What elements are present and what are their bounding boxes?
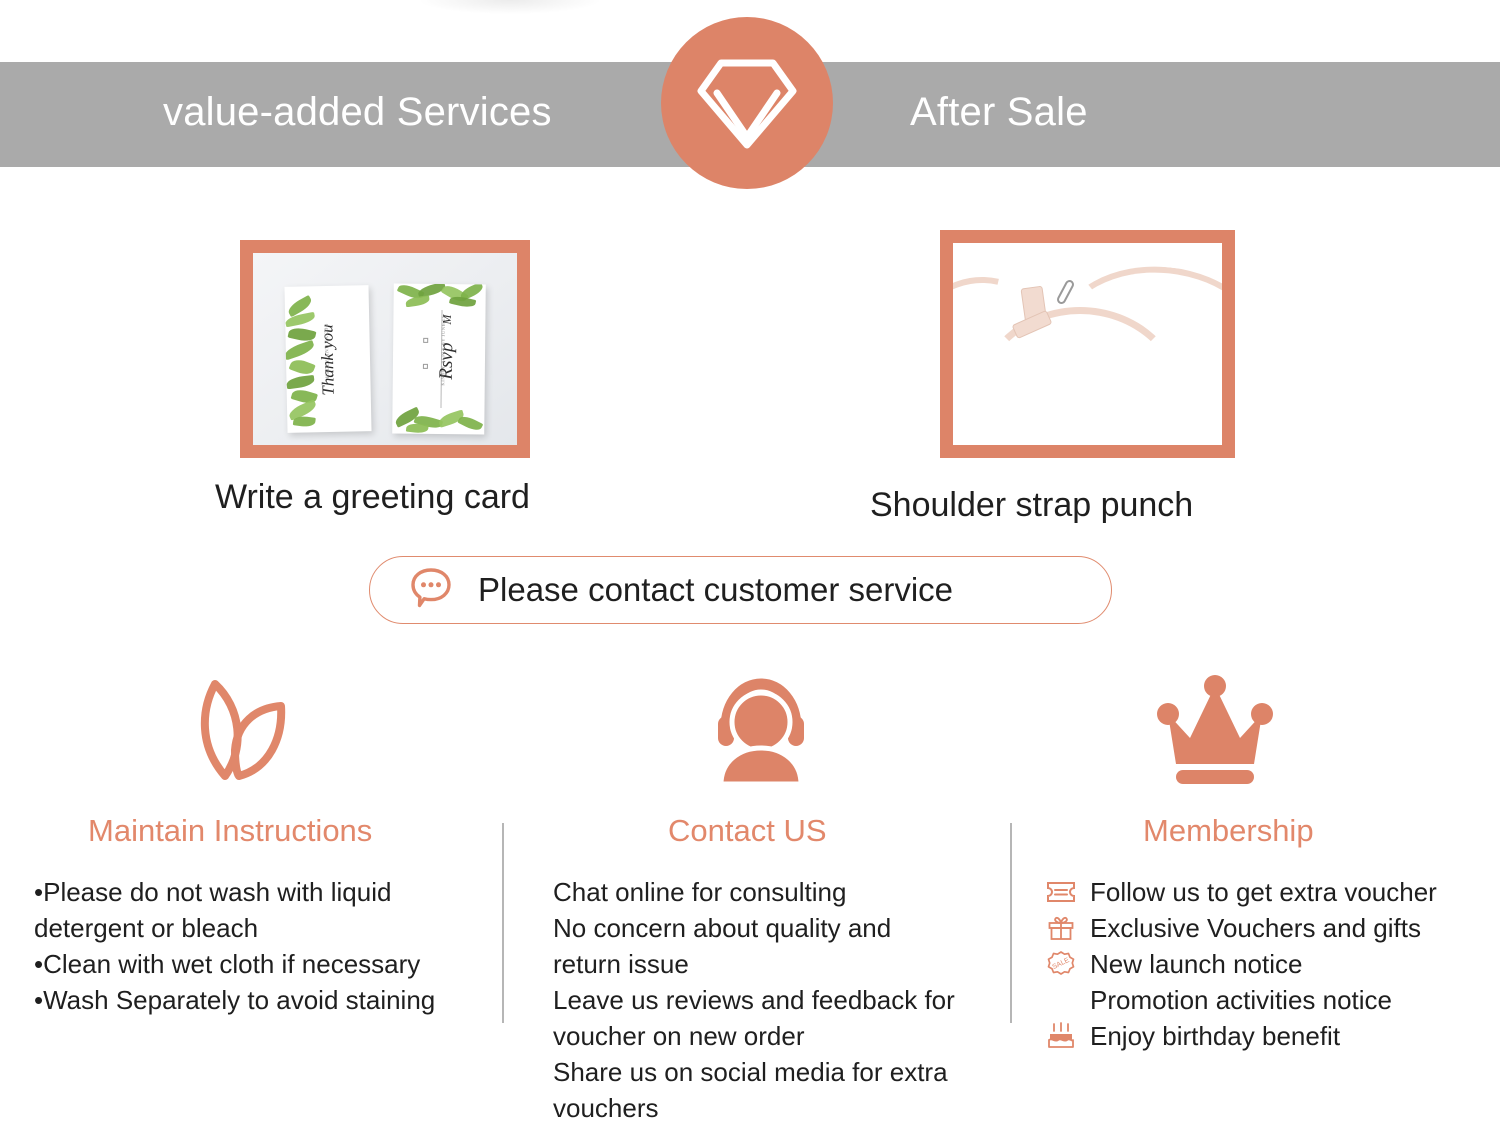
maintain-line: •Clean with wet cloth if necessary: [34, 946, 474, 982]
maintain-line: •Wash Separately to avoid staining: [34, 982, 474, 1018]
maintain-line: •Please do not wash with liquid: [34, 874, 474, 910]
svg-text:SALE: SALE: [1051, 957, 1070, 971]
infographic-page: value-added Services After Sale Th: [0, 0, 1500, 1145]
contact-line: Chat online for consulting: [553, 874, 983, 910]
contact-line: return issue: [553, 946, 983, 982]
list-item: Enjoy birthday benefit: [1044, 1018, 1494, 1054]
column-divider-1: [502, 823, 504, 1023]
top-shadow-decoration: [420, 0, 600, 14]
sale-badge-icon: SALE: [1044, 950, 1078, 978]
membership-item-label: Enjoy birthday benefit: [1090, 1018, 1340, 1054]
header-right-label: After Sale: [910, 84, 1088, 140]
membership-item-label: Follow us to get extra voucher: [1090, 874, 1437, 910]
header-left-label: value-added Services: [163, 84, 552, 140]
diamond-v-logo-icon: [661, 17, 833, 189]
ticket-icon: [1044, 878, 1078, 906]
membership-item-label: Promotion activities notice: [1090, 982, 1392, 1018]
thank-you-card: Thank you KELLY AND JACOB: [284, 285, 371, 433]
crown-icon: [1152, 672, 1278, 784]
chat-bubble-icon: [406, 563, 456, 618]
list-item: Promotion activities notice: [1044, 982, 1494, 1018]
membership-item-label: Exclusive Vouchers and gifts: [1090, 910, 1421, 946]
maintain-instructions-body: •Please do not wash with liquid detergen…: [34, 874, 474, 1018]
list-item: Follow us to get extra voucher: [1044, 874, 1494, 910]
leaf-icon: [185, 676, 305, 786]
contact-line: Leave us reviews and feedback for: [553, 982, 983, 1018]
contact-line: No concern about quality and: [553, 910, 983, 946]
list-item: Exclusive Vouchers and gifts: [1044, 910, 1494, 946]
gift-box-icon: [1044, 914, 1078, 942]
greeting-card-caption: Write a greeting card: [215, 478, 530, 517]
headset-agent-icon: [706, 672, 816, 784]
list-item: SALE New launch notice: [1044, 946, 1494, 982]
greeting-cards-photo: Thank you KELLY AND JACOB Rsvp: [240, 240, 530, 458]
card-rsvp-name-line: M: [440, 290, 456, 350]
contact-pill-label: Please contact customer service: [478, 571, 953, 609]
maintain-line: detergent or bleach: [34, 910, 474, 946]
birthday-cake-icon: [1044, 1022, 1078, 1050]
contact-us-title: Contact US: [668, 813, 827, 849]
membership-title: Membership: [1143, 813, 1314, 849]
maintain-instructions-title: Maintain Instructions: [88, 813, 372, 849]
rsvp-card: Rsvp KINDLY REPLY BY JUNE 15 M: [392, 284, 486, 435]
membership-body: Follow us to get extra voucher Exclusive…: [1044, 874, 1494, 1054]
contact-customer-service-button[interactable]: Please contact customer service: [369, 556, 1112, 624]
contact-line: voucher on new order: [553, 1018, 983, 1054]
contact-us-body: Chat online for consulting No concern ab…: [553, 874, 983, 1126]
contact-line: vouchers: [553, 1090, 983, 1126]
column-divider-2: [1010, 823, 1012, 1023]
membership-item-label: New launch notice: [1090, 946, 1302, 982]
contact-line: Share us on social media for extra: [553, 1054, 983, 1090]
shoulder-strap-photo: [940, 230, 1235, 458]
shoulder-strap-caption: Shoulder strap punch: [870, 486, 1193, 525]
